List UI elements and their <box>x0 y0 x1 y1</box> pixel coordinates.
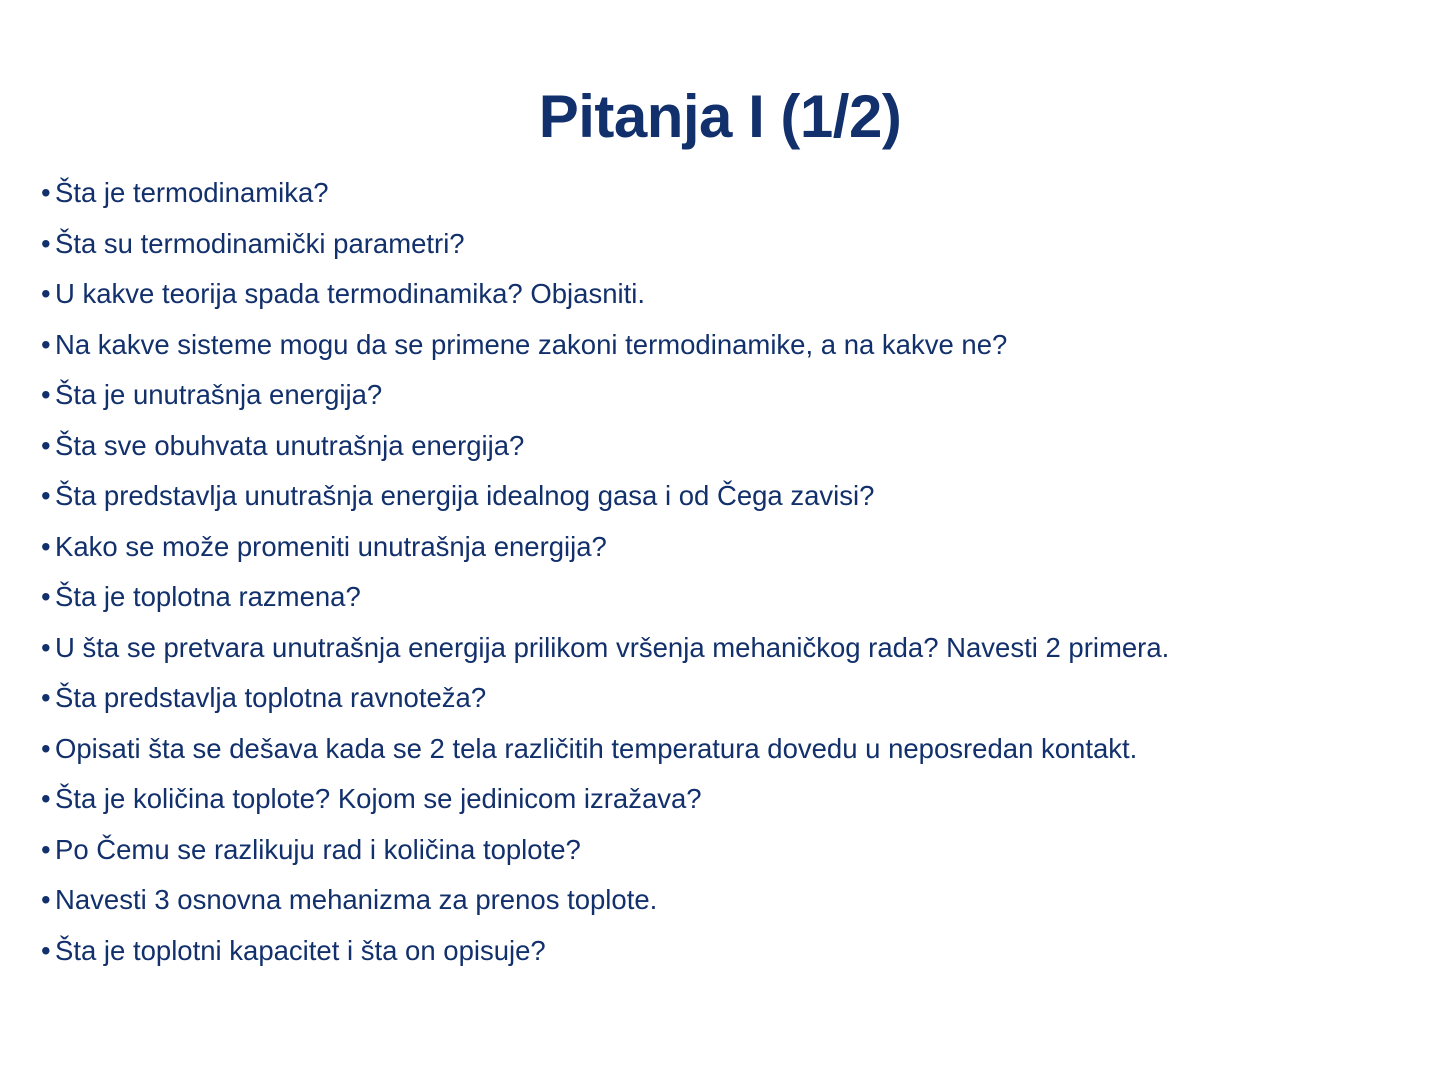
question-text: Šta je količina toplote? Kojom se jedini… <box>55 783 702 814</box>
question-text: Šta je unutrašnja energija? <box>55 379 382 410</box>
question-text: Šta je toplotni kapacitet i šta on opisu… <box>55 935 546 966</box>
list-item: • Šta je termodinamika? <box>40 168 1400 219</box>
bullet-icon: • <box>41 471 51 522</box>
bullet-icon: • <box>41 825 51 876</box>
bullet-icon: • <box>41 219 51 270</box>
list-item: • Šta je količina toplote? Kojom se jedi… <box>40 774 1400 825</box>
list-item: • Kako se može promeniti unutrašnja ener… <box>40 522 1400 573</box>
question-text: Na kakve sisteme mogu da se primene zako… <box>55 329 1007 360</box>
bullet-icon: • <box>41 572 51 623</box>
list-item: • U kakve teorija spada termodinamika? O… <box>40 269 1400 320</box>
list-item: • Šta su termodinamički parametri? <box>40 219 1400 270</box>
question-text: Šta sve obuhvata unutrašnja energija? <box>55 430 524 461</box>
list-item: • Po Čemu se razlikuju rad i količina to… <box>40 825 1400 876</box>
list-item: • Šta predstavlja unutrašnja energija id… <box>40 471 1400 522</box>
bullet-icon: • <box>41 774 51 825</box>
list-item: • Šta predstavlja toplotna ravnoteža? <box>40 673 1400 724</box>
bullet-icon: • <box>41 370 51 421</box>
list-item: • U šta se pretvara unutrašnja energija … <box>40 623 1400 674</box>
question-text: Šta su termodinamički parametri? <box>55 228 465 259</box>
question-text: Šta je termodinamika? <box>55 177 329 208</box>
bullet-icon: • <box>41 926 51 977</box>
question-text: U kakve teorija spada termodinamika? Obj… <box>55 278 645 309</box>
question-text: Navesti 3 osnovna mehanizma za prenos to… <box>55 884 657 915</box>
question-text: Opisati šta se dešava kada se 2 tela raz… <box>55 733 1137 764</box>
bullet-icon: • <box>41 724 51 775</box>
question-list: • Šta je termodinamika? • Šta su termodi… <box>40 168 1400 976</box>
slide-body: • Šta je termodinamika? • Šta su termodi… <box>40 168 1400 976</box>
question-text: Šta predstavlja toplotna ravnoteža? <box>55 682 486 713</box>
question-text: U šta se pretvara unutrašnja energija pr… <box>55 632 1169 663</box>
list-item: • Šta je toplotna razmena? <box>40 572 1400 623</box>
list-item: • Šta je unutrašnja energija? <box>40 370 1400 421</box>
list-item: • Opisati šta se dešava kada se 2 tela r… <box>40 724 1400 775</box>
bullet-icon: • <box>41 522 51 573</box>
question-text: Po Čemu se razlikuju rad i količina topl… <box>55 834 581 865</box>
presentation-slide: Pitanja I (1/2) • Šta je termodinamika? … <box>0 0 1440 1080</box>
list-item: • Navesti 3 osnovna mehanizma za prenos … <box>40 875 1400 926</box>
bullet-icon: • <box>41 673 51 724</box>
bullet-icon: • <box>41 168 51 219</box>
question-text: Šta je toplotna razmena? <box>55 581 361 612</box>
question-text: Kako se može promeniti unutrašnja energi… <box>55 531 607 562</box>
page-title: Pitanja I (1/2) <box>0 84 1440 150</box>
bullet-icon: • <box>41 269 51 320</box>
bullet-icon: • <box>41 320 51 371</box>
question-text: Šta predstavlja unutrašnja energija idea… <box>55 480 874 511</box>
list-item: • Šta je toplotni kapacitet i šta on opi… <box>40 926 1400 977</box>
bullet-icon: • <box>41 421 51 472</box>
list-item: • Šta sve obuhvata unutrašnja energija? <box>40 421 1400 472</box>
bullet-icon: • <box>41 623 51 674</box>
list-item: • Na kakve sisteme mogu da se primene za… <box>40 320 1400 371</box>
bullet-icon: • <box>41 875 51 926</box>
